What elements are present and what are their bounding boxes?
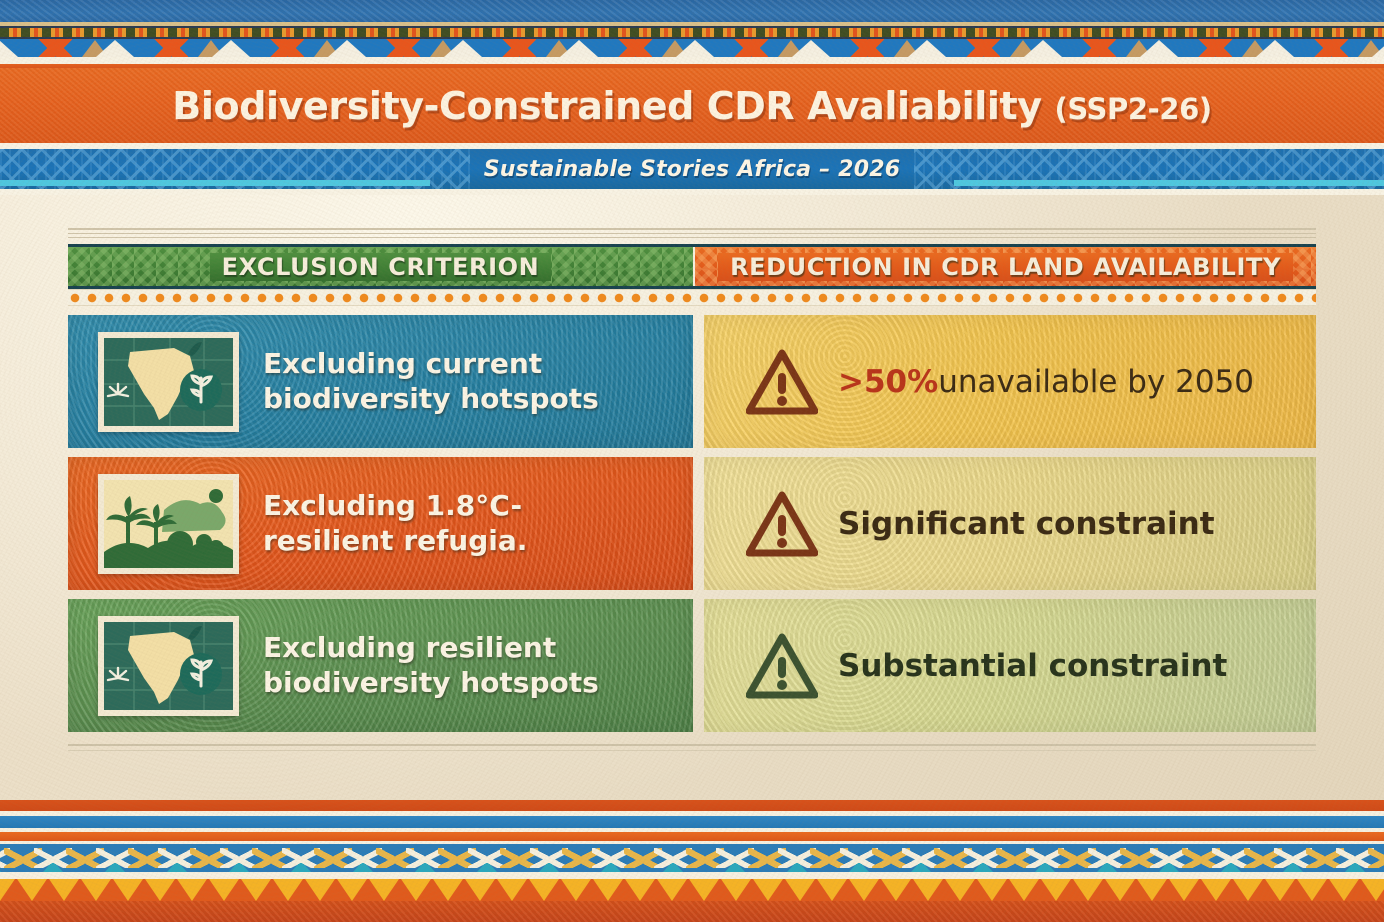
triangle-motif xyxy=(0,39,28,57)
triangle-motif xyxy=(177,879,207,901)
comparison-table: EXCLUSION CRITERION REDUCTION IN CDR LAN… xyxy=(68,228,1316,751)
triangle-motif xyxy=(369,879,399,901)
triangle-motif xyxy=(1361,879,1384,901)
chevron-motif xyxy=(728,39,768,57)
triangle-motif xyxy=(1009,879,1039,901)
triangle-motif xyxy=(785,879,815,901)
triangle-motif xyxy=(977,879,1007,901)
chevron-motif xyxy=(32,39,72,57)
table-bottom-rule-2 xyxy=(68,750,1316,751)
bottom-cream-rule-4 xyxy=(0,872,1384,879)
criterion-cell: Excluding 1.8°C- resilient refugia. xyxy=(68,457,693,590)
triangle-motif xyxy=(305,879,335,901)
triangle-motif xyxy=(945,879,975,901)
triangle-motif xyxy=(1233,879,1263,901)
subtitle-blue-band: Sustainable Stories Africa – 2026 xyxy=(0,149,1384,189)
reduction-prefix: > xyxy=(838,364,864,400)
triangle-motif xyxy=(86,39,144,57)
triangle-motif xyxy=(881,879,911,901)
warning-triangle-icon xyxy=(746,491,818,557)
reduction-suffix: Significant constraint xyxy=(838,506,1215,542)
reduction-text: Significant constraint xyxy=(838,506,1215,542)
warning-triangle-icon xyxy=(746,349,818,415)
triangle-motif xyxy=(1265,879,1295,901)
table-top-rule-3 xyxy=(68,237,1316,238)
cyan-underline-left xyxy=(0,180,430,186)
triangle-motif xyxy=(1041,879,1071,901)
criterion-text: Excluding resilient biodiversity hotspot… xyxy=(263,631,599,699)
subtitle-bottom-rule xyxy=(0,189,1384,195)
africa-biodiversity-map-icon xyxy=(98,332,239,432)
top-decorative-border xyxy=(0,0,1384,68)
table-row: Excluding current biodiversity hotspots … xyxy=(68,315,1316,448)
criterion-line-1: Excluding current xyxy=(263,347,599,381)
triangle-motif xyxy=(433,879,463,901)
triangle-motif xyxy=(817,879,847,901)
chevron-motif xyxy=(496,39,536,57)
column-header-criterion: EXCLUSION CRITERION xyxy=(68,247,693,286)
triangle-motif xyxy=(318,39,376,57)
tropical-refugia-icon xyxy=(98,474,239,574)
triangle-motif xyxy=(666,39,724,57)
chevron-motif xyxy=(380,39,420,57)
triangle-motif xyxy=(241,879,271,901)
triangle-motif xyxy=(1362,39,1384,57)
title-bar: Biodiversity-Constrained CDR Avaliabilit… xyxy=(0,68,1384,143)
triangle-motif xyxy=(913,879,943,901)
triangle-motif xyxy=(625,879,655,901)
chevron-motif xyxy=(844,39,884,57)
navy-band xyxy=(0,0,1384,22)
triangle-motif xyxy=(1169,879,1199,901)
triangle-motif xyxy=(721,879,751,901)
triangle-motif xyxy=(1137,879,1167,901)
triangle-motif xyxy=(434,39,492,57)
triangle-motif xyxy=(17,879,47,901)
triangle-motif xyxy=(49,879,79,901)
bottom-blue-band xyxy=(0,816,1384,828)
reduction-text: >50%unavailable by 2050 xyxy=(838,364,1254,400)
column-header-reduction-label: REDUCTION IN CDR LAND AVAILABILITY xyxy=(718,253,1293,281)
triangle-motif xyxy=(465,879,495,901)
triangle-motif xyxy=(529,879,559,901)
cream-rule xyxy=(0,57,1384,64)
chevron-motif xyxy=(1076,39,1116,57)
triangle-motif xyxy=(497,879,527,901)
table-bottom-rule-1 xyxy=(68,744,1316,746)
reduction-cell: Substantial constraint xyxy=(704,599,1316,732)
reduction-text: Substantial constraint xyxy=(838,648,1227,684)
triangle-pattern-band xyxy=(0,39,1384,57)
criterion-cell: Excluding resilient biodiversity hotspot… xyxy=(68,599,693,732)
chevron-motif xyxy=(264,39,304,57)
triangle-motif xyxy=(782,39,840,57)
triangle-motif xyxy=(401,879,431,901)
triangle-motif xyxy=(209,879,239,901)
subtitle: Sustainable Stories Africa – 2026 xyxy=(466,157,918,182)
warning-triangle-icon xyxy=(746,633,818,699)
table-row: Excluding 1.8°C- resilient refugia. Sign… xyxy=(68,457,1316,590)
africa-biodiversity-map-icon xyxy=(98,616,239,716)
criterion-line-2: biodiversity hotspots xyxy=(263,382,599,416)
triangle-motif xyxy=(1329,879,1359,901)
title-main: Biodiversity-Constrained CDR Avaliabilit… xyxy=(172,84,1041,128)
triangle-motif xyxy=(550,39,608,57)
triangle-motif xyxy=(1246,39,1304,57)
table-top-rule-1 xyxy=(68,228,1316,230)
triangle-motif xyxy=(593,879,623,901)
triangle-motif xyxy=(849,879,879,901)
triangle-motif xyxy=(1201,879,1231,901)
criterion-text: Excluding 1.8°C- resilient refugia. xyxy=(263,489,527,557)
criterion-cell: Excluding current biodiversity hotspots xyxy=(68,315,693,448)
triangle-motif xyxy=(273,879,303,901)
triangle-motif xyxy=(0,879,15,901)
triangle-motif xyxy=(689,879,719,901)
criterion-line-2: resilient refugia. xyxy=(263,524,527,558)
chevron-motif xyxy=(1308,39,1348,57)
bottom-orange-band-2 xyxy=(0,832,1384,841)
triangle-motif xyxy=(1130,39,1188,57)
reduction-value: 50% xyxy=(864,364,938,400)
chevron-motif xyxy=(960,39,1000,57)
dotted-separator xyxy=(68,289,1316,306)
chevron-motif xyxy=(148,39,188,57)
triangle-motif xyxy=(145,879,175,901)
triangle-motif xyxy=(337,879,367,901)
triangle-motif xyxy=(1105,879,1135,901)
checker-pattern-band xyxy=(0,26,1384,39)
triangle-motif xyxy=(657,879,687,901)
reduction-cell: Significant constraint xyxy=(704,457,1316,590)
criterion-line-2: biodiversity hotspots xyxy=(263,666,599,700)
reduction-cell: >50%unavailable by 2050 xyxy=(704,315,1316,448)
triangle-motif xyxy=(1014,39,1072,57)
column-header-criterion-label: EXCLUSION CRITERION xyxy=(210,253,552,281)
cyan-underline-right xyxy=(954,180,1384,186)
triangle-motif xyxy=(81,879,111,901)
triangle-motif xyxy=(753,879,783,901)
chevron-motif xyxy=(1192,39,1232,57)
criterion-line-1: Excluding 1.8°C- xyxy=(263,489,527,523)
chevron-motif xyxy=(612,39,652,57)
triangle-motif xyxy=(1073,879,1103,901)
triangle-motif xyxy=(202,39,260,57)
subtitle-bar: Sustainable Stories Africa – 2026 xyxy=(0,143,1384,195)
page-title: Biodiversity-Constrained CDR Avaliabilit… xyxy=(172,84,1211,128)
reduction-suffix: Substantial constraint xyxy=(838,648,1227,684)
title-scenario: (SSP2-26) xyxy=(1055,92,1212,126)
infographic-poster: Biodiversity-Constrained CDR Avaliabilit… xyxy=(0,0,1384,922)
reduction-suffix: unavailable by 2050 xyxy=(938,364,1254,400)
table-top-rule-2 xyxy=(68,233,1316,234)
bottom-orange-band-1 xyxy=(0,800,1384,811)
bottom-chevron-band xyxy=(0,844,1384,872)
triangle-motif xyxy=(561,879,591,901)
table-bottom-rules xyxy=(68,744,1316,751)
table-row: Excluding resilient biodiversity hotspot… xyxy=(68,599,1316,732)
bottom-orange-base xyxy=(0,901,1384,922)
bottom-decorative-border xyxy=(0,800,1384,922)
criterion-text: Excluding current biodiversity hotspots xyxy=(263,347,599,415)
triangle-motif xyxy=(1297,879,1327,901)
table-header-row: EXCLUSION CRITERION REDUCTION IN CDR LAN… xyxy=(68,244,1316,289)
triangle-motif xyxy=(898,39,956,57)
triangle-motif xyxy=(113,879,143,901)
bottom-triangle-band xyxy=(0,879,1384,901)
criterion-line-1: Excluding resilient xyxy=(263,631,599,665)
column-header-reduction: REDUCTION IN CDR LAND AVAILABILITY xyxy=(695,247,1316,286)
